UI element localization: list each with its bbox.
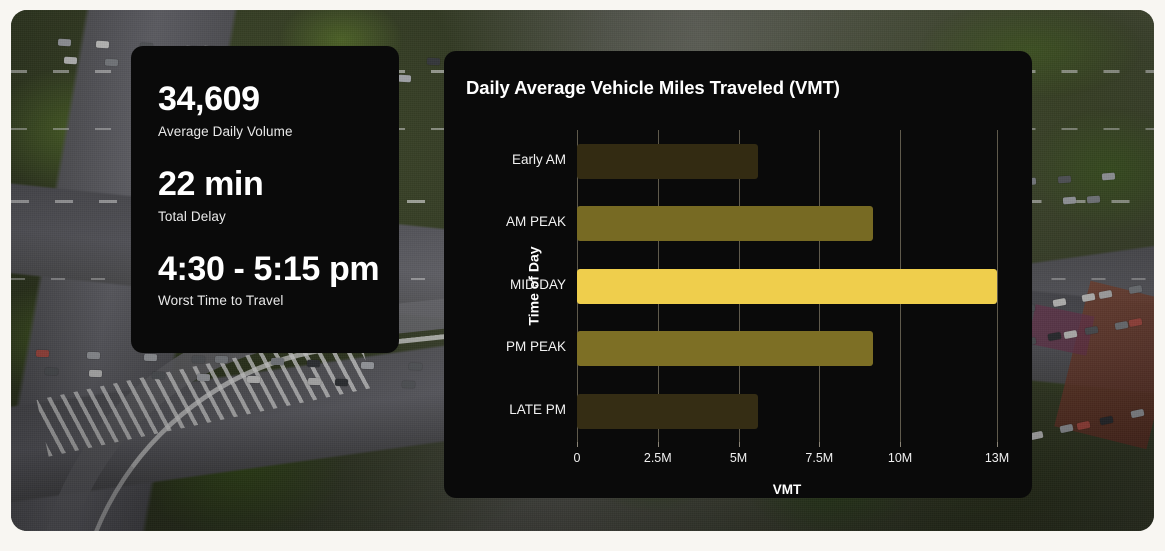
bar-late-pm[interactable]	[577, 394, 758, 429]
x-axis-ticks: 02.5M5M7.5M10M13M	[577, 442, 997, 472]
bar-row: PM PEAK	[577, 317, 997, 379]
bar-row: AM PEAK	[577, 192, 997, 254]
tick-mark	[577, 442, 578, 447]
bar-am-peak[interactable]	[577, 206, 873, 241]
tick-mark	[739, 442, 740, 447]
category-label: Early AM	[512, 152, 566, 167]
x-tick-label: 10M	[888, 451, 912, 465]
bar-pm-peak[interactable]	[577, 331, 873, 366]
stat-label: Worst Time to Travel	[158, 293, 399, 308]
stat-label: Total Delay	[158, 209, 399, 224]
x-tick-label: 5M	[730, 451, 747, 465]
bar-row: MID-DAY	[577, 255, 997, 317]
stat-label: Average Daily Volume	[158, 124, 399, 139]
gridline-13M	[997, 130, 998, 442]
summary-stats-card: 34,609 Average Daily Volume 22 min Total…	[131, 46, 399, 353]
x-axis-title: VMT	[577, 482, 997, 497]
tick-mark	[819, 442, 820, 447]
bar-row: Early AM	[577, 130, 997, 192]
tick-mark	[658, 442, 659, 447]
stat-value: 34,609	[158, 80, 399, 119]
category-label: MID-DAY	[510, 277, 566, 292]
tick-mark	[900, 442, 901, 447]
stat-item: 34,609 Average Daily Volume	[158, 80, 399, 139]
stat-value: 4:30 - 5:15 pm	[158, 250, 399, 289]
x-tick-label: 0	[574, 451, 581, 465]
tick-mark	[997, 442, 998, 447]
category-label: LATE PM	[509, 402, 566, 417]
bar-mid-day[interactable]	[577, 269, 997, 304]
stat-item: 22 min Total Delay	[158, 165, 399, 224]
stat-item: 4:30 - 5:15 pm Worst Time to Travel	[158, 250, 399, 309]
x-tick-label: 7.5M	[805, 451, 833, 465]
x-tick-label: 2.5M	[644, 451, 672, 465]
page-canvas: 34,609 Average Daily Volume 22 min Total…	[0, 0, 1165, 551]
bar-early-am[interactable]	[577, 144, 758, 179]
chart-title: Daily Average Vehicle Miles Traveled (VM…	[466, 77, 840, 99]
vmt-bar-chart-panel: Daily Average Vehicle Miles Traveled (VM…	[444, 51, 1032, 498]
bar-row: LATE PM	[577, 380, 997, 442]
stat-value: 22 min	[158, 165, 399, 204]
chart-plot-area: Time of Day Early AMAM PEAKMID-DAYPM PEA…	[577, 130, 997, 442]
category-label: AM PEAK	[506, 214, 566, 229]
category-label: PM PEAK	[506, 339, 566, 354]
x-tick-label: 13M	[985, 451, 1009, 465]
